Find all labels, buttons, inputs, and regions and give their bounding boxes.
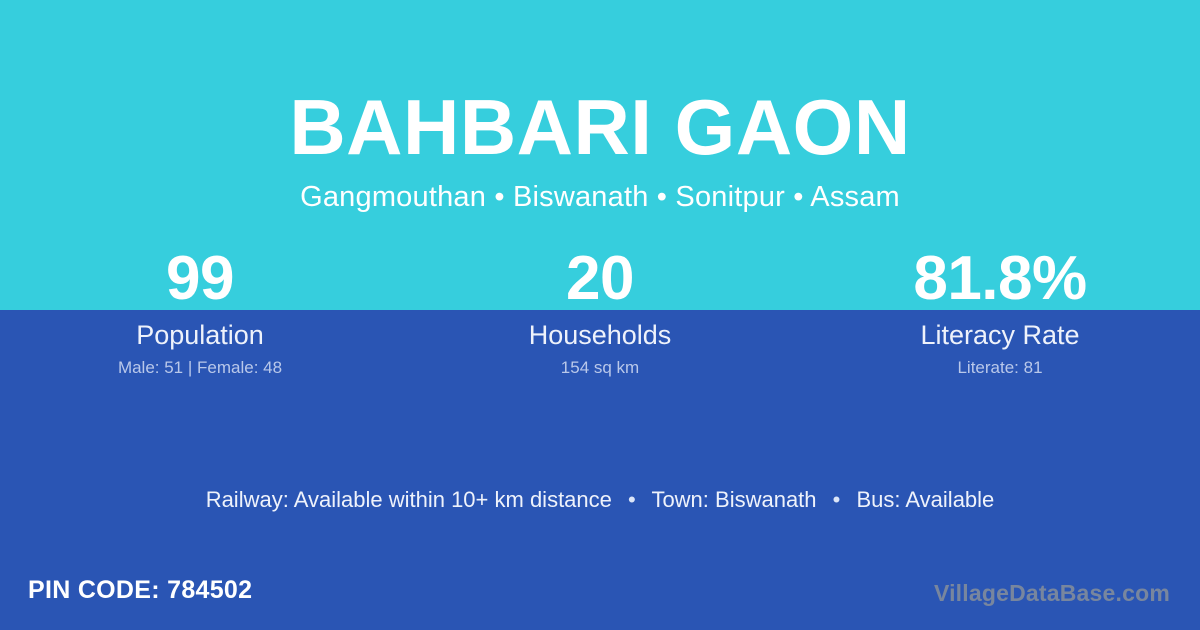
stat-value: 99 bbox=[0, 248, 400, 310]
amenities-row: Railway: Available within 10+ km distanc… bbox=[0, 484, 1200, 516]
stat-sublabel: Male: 51 | Female: 48 bbox=[0, 358, 400, 378]
amenity-separator-icon: • bbox=[618, 487, 646, 512]
site-brand-logo: VillageDataBase.com bbox=[934, 578, 1170, 608]
breadcrumb: Gangmouthan • Biswanath • Sonitpur • Ass… bbox=[0, 183, 1200, 212]
page-title: BAHBARI GAON bbox=[0, 88, 1200, 166]
amenity-bus: Bus: Available bbox=[856, 487, 994, 512]
stat-sublabel: Literate: 81 bbox=[800, 358, 1200, 378]
stat-literacy-rate: 81.8% Literacy Rate Literate: 81 bbox=[800, 248, 1200, 378]
card-footer: PIN CODE: 784502 VillageDataBase.com bbox=[0, 560, 1200, 630]
stat-households: 20 Households 154 sq km bbox=[400, 248, 800, 378]
amenity-railway: Railway: Available within 10+ km distanc… bbox=[206, 487, 612, 512]
pin-code-label: PIN CODE: 784502 bbox=[28, 574, 252, 606]
stat-value: 20 bbox=[400, 248, 800, 310]
stat-label: Population bbox=[0, 320, 400, 350]
village-info-card: BAHBARI GAON Gangmouthan • Biswanath • S… bbox=[0, 0, 1200, 630]
stat-population: 99 Population Male: 51 | Female: 48 bbox=[0, 248, 400, 378]
amenity-separator-icon: • bbox=[823, 487, 851, 512]
stat-label: Households bbox=[400, 320, 800, 350]
stat-label: Literacy Rate bbox=[800, 320, 1200, 350]
stat-sublabel: 154 sq km bbox=[400, 358, 800, 378]
amenity-town: Town: Biswanath bbox=[651, 487, 816, 512]
stats-row: 99 Population Male: 51 | Female: 48 20 H… bbox=[0, 248, 1200, 378]
stat-value: 81.8% bbox=[800, 248, 1200, 310]
